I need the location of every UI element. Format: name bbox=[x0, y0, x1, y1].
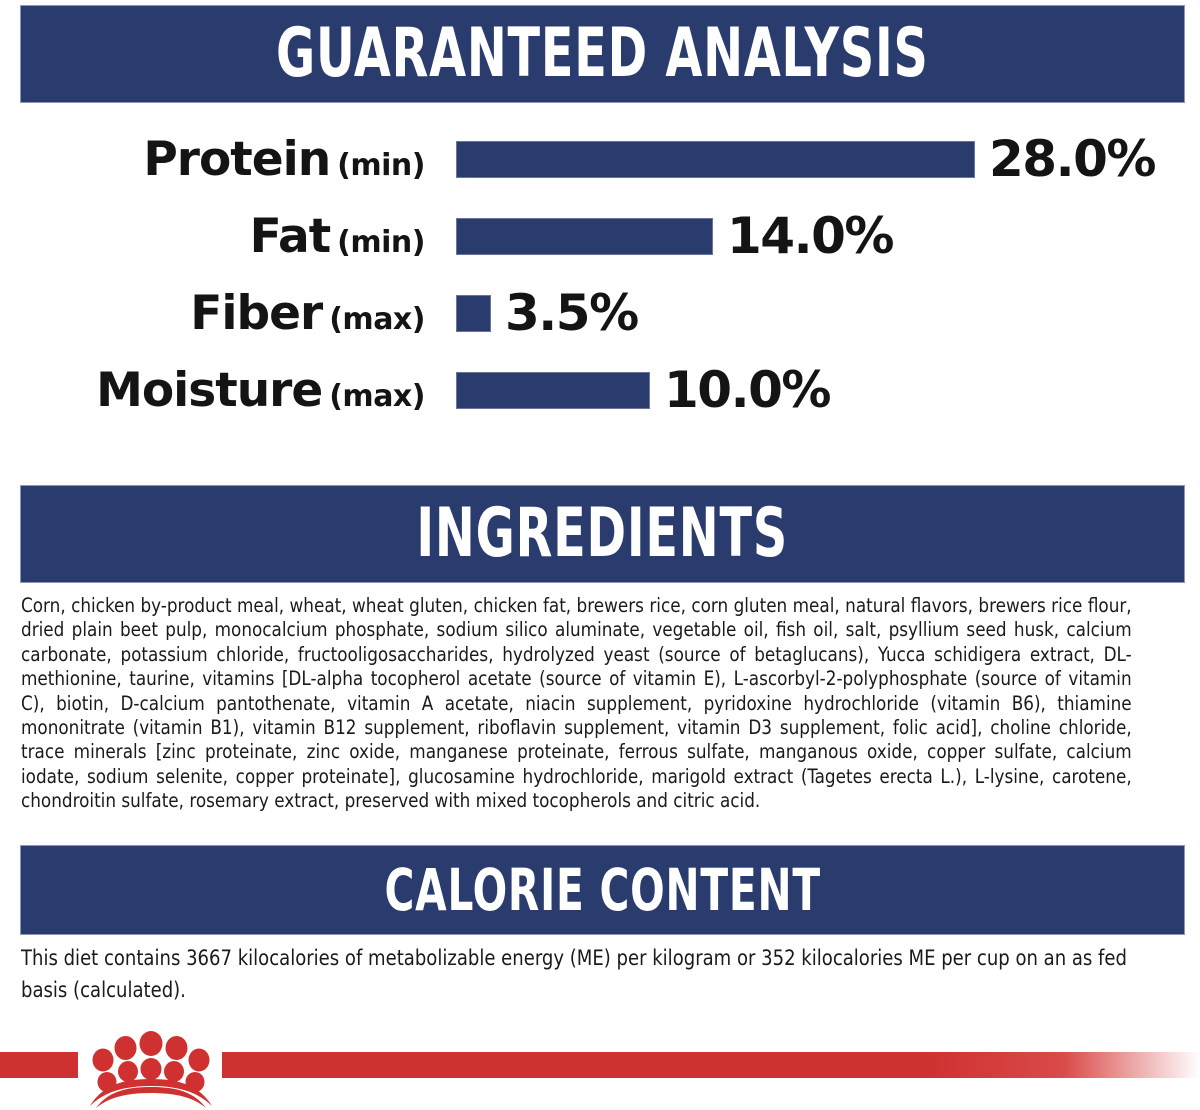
nutrient-value-fiber: 3.5% bbox=[505, 288, 638, 338]
nutrient-row-fiber: Fiber(max) 3.5% bbox=[0, 282, 1200, 344]
nutrient-label-fat: Fat(min) bbox=[0, 213, 425, 260]
nutrient-label-moisture: Moisture(max) bbox=[0, 367, 425, 414]
ingredients-header-band: INGREDIENTS bbox=[20, 485, 1185, 583]
nutrient-row-protein: Protein(min) 28.0% bbox=[0, 128, 1200, 190]
nutrient-label-fiber: Fiber(max) bbox=[0, 290, 425, 337]
nutrient-qualifier: (min) bbox=[337, 148, 425, 183]
nutrient-bar-fiber bbox=[456, 295, 491, 332]
royal-canin-crown-icon bbox=[80, 1030, 222, 1108]
brand-stripe-right-segment bbox=[222, 1052, 1200, 1078]
nutrient-value-protein: 28.0% bbox=[989, 134, 1155, 184]
nutrient-bar-wrap-fat: 14.0% bbox=[456, 211, 893, 261]
calorie-content-header-band: CALORIE CONTENT bbox=[20, 845, 1185, 935]
nutrient-name: Fiber bbox=[190, 286, 322, 341]
nutrient-value-fat: 14.0% bbox=[727, 211, 893, 261]
nutrient-bar-moisture bbox=[456, 372, 650, 409]
calorie-content-text: This diet contains 3667 kilocalories of … bbox=[21, 942, 1132, 1006]
nutrient-name: Fat bbox=[250, 209, 331, 264]
nutrient-value-moisture: 10.0% bbox=[664, 365, 830, 415]
nutrient-bar-wrap-protein: 28.0% bbox=[456, 134, 1155, 184]
nutrient-name: Protein bbox=[143, 132, 330, 187]
guaranteed-analysis-header-band: GUARANTEED ANALYSIS bbox=[20, 5, 1185, 103]
nutrient-label-protein: Protein(min) bbox=[0, 136, 425, 183]
nutrient-bar-wrap-fiber: 3.5% bbox=[456, 288, 638, 338]
ingredients-heading: INGREDIENTS bbox=[417, 500, 789, 568]
calorie-content-heading: CALORIE CONTENT bbox=[384, 861, 820, 919]
nutrient-row-moisture: Moisture(max) 10.0% bbox=[0, 359, 1200, 421]
nutrient-name: Moisture bbox=[96, 363, 322, 418]
nutrient-bar-protein bbox=[456, 141, 975, 178]
nutrient-qualifier: (min) bbox=[337, 225, 425, 260]
nutrient-bar-fat bbox=[456, 218, 713, 255]
nutrient-qualifier: (max) bbox=[329, 379, 425, 414]
nutrient-row-fat: Fat(min) 14.0% bbox=[0, 205, 1200, 267]
guaranteed-analysis-heading: GUARANTEED ANALYSIS bbox=[276, 20, 929, 88]
nutrient-qualifier: (max) bbox=[329, 302, 425, 337]
brand-stripe-left-segment bbox=[0, 1052, 78, 1078]
ingredients-text: Corn, chicken by-product meal, wheat, wh… bbox=[21, 594, 1132, 814]
guaranteed-analysis-chart: Protein(min) 28.0% Fat(min) 14.0% Fiber(… bbox=[0, 128, 1200, 448]
nutrient-bar-wrap-moisture: 10.0% bbox=[456, 365, 830, 415]
